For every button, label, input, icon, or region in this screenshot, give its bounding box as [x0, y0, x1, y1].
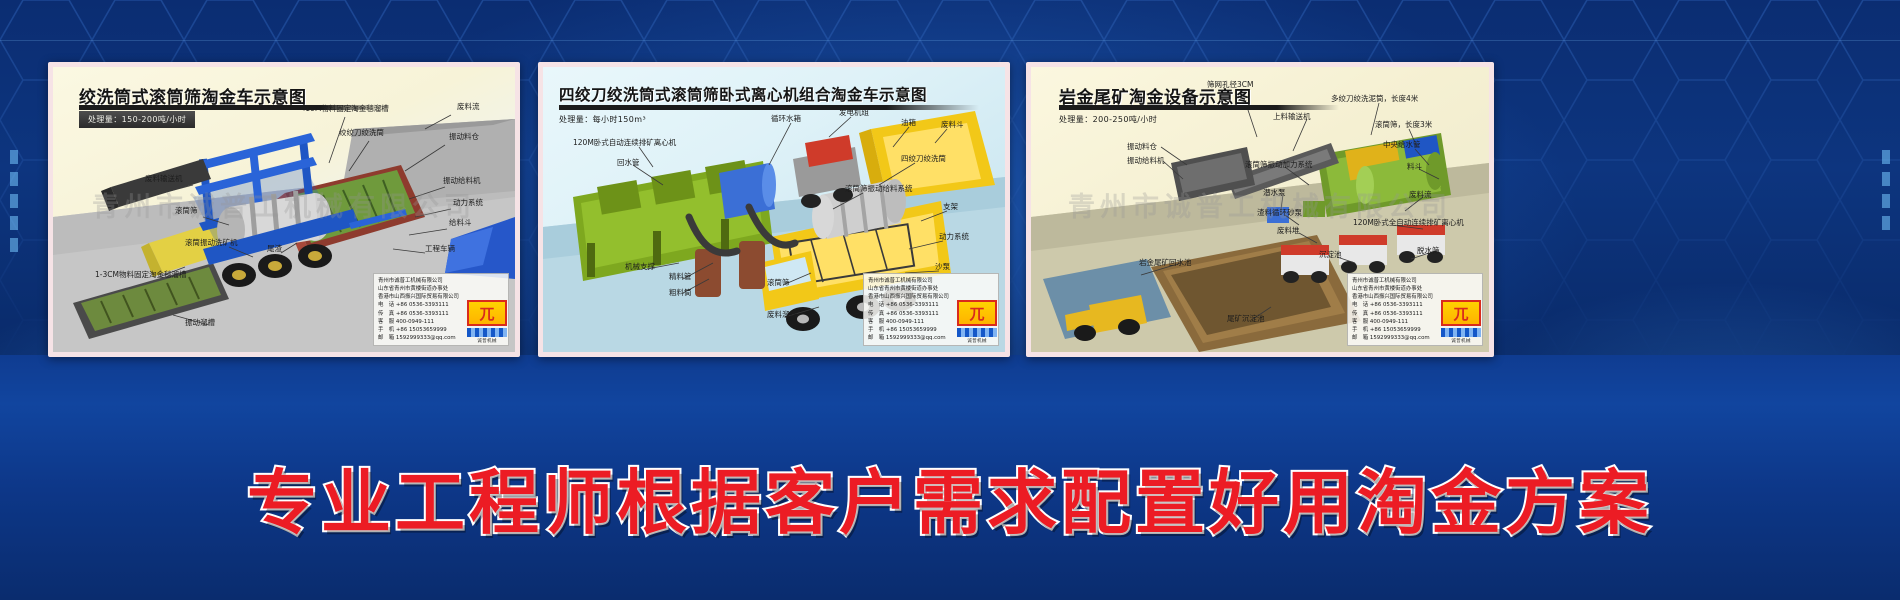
logo-glyph: 兀	[1441, 300, 1481, 326]
logo-stripe-decoration	[1441, 328, 1481, 337]
panel-3-label-1: 多绞刀绞洗泥筒，长度4米	[1331, 95, 1418, 104]
panel-3-label-0: 筛网孔径3CM	[1207, 81, 1253, 90]
panel-2-title: 四绞刀绞洗筒式滚筒筛卧式离心机组合淘金车示意图	[559, 83, 927, 105]
panel-3-title-rule	[1059, 105, 1339, 110]
panel-2-label-0: 循环水箱	[771, 115, 801, 124]
panel-1-label-5: 滚筒筛	[175, 207, 198, 216]
panel-1-label-6: 振动给料机	[443, 177, 481, 186]
panel-3-label-9: 潜水泵	[1263, 189, 1286, 198]
panel-3-canvas: 岩金尾矿淘金设备示意图 处理量：200-250吨/小时 青州市诚普工机械有限公司…	[1031, 67, 1489, 352]
panel-2-label-7: 滚筒筛振动给料系统	[845, 185, 913, 194]
panel-2-label-9: 动力系统	[939, 233, 969, 242]
panel-3-label-11: 渣料循环砂泵	[1257, 209, 1302, 218]
panel-3-label-8: 料斗	[1407, 163, 1422, 172]
contact-address: 山东省青州市黄楼街道办事处	[1352, 285, 1478, 293]
panel-1-label-1: 废料流	[457, 103, 480, 112]
diagram-panel-2[interactable]: 四绞刀绞洗筒式滚筒筛卧式离心机组合淘金车示意图 处理量：每小时150m³ 循环水…	[538, 62, 1010, 357]
panel-2-label-4: 120M卧式自动连续排矿离心机	[573, 139, 676, 148]
panel-1-company-logo: 兀 诚普机械	[467, 300, 507, 342]
panel-2-label-14: 滚筒筛	[767, 279, 790, 288]
panel-3-label-10: 废料流	[1409, 191, 1432, 200]
panel-3-label-15: 脱水筛	[1417, 247, 1440, 256]
panel-3-label-7: 滚筒筛振动加力系统	[1245, 161, 1313, 170]
diagram-panel-3[interactable]: 岩金尾矿淘金设备示意图 处理量：200-250吨/小时 青州市诚普工机械有限公司…	[1026, 62, 1494, 357]
panel-1-label-9: 滚筒振动洗矿机	[185, 239, 238, 248]
panel-1-label-8: 给料斗	[449, 219, 472, 228]
headline-banner: 专业工程师根据客户需求配置好用淘金方案	[0, 440, 1900, 555]
logo-caption: 诚普机械	[1441, 338, 1481, 344]
panel-1-label-11: 工程车辆	[425, 245, 455, 254]
logo-stripe-decoration	[957, 328, 997, 337]
panel-2-canvas: 四绞刀绞洗筒式滚筒筛卧式离心机组合淘金车示意图 处理量：每小时150m³ 循环水…	[543, 67, 1005, 352]
panel-3-company-logo: 兀 诚普机械	[1441, 300, 1481, 342]
panel-3-label-3: 滚筒筛，长度3米	[1375, 121, 1432, 130]
panel-1-label-10: 尾渣	[267, 245, 282, 254]
panel-2-label-5: 回水管	[617, 159, 640, 168]
contact-address: 山东省青州市黄楼街道办事处	[378, 285, 504, 293]
panel-1-capacity-badge: 处理量：150-200吨/小时	[79, 111, 195, 128]
panel-3-label-4: 中央给水管	[1383, 141, 1421, 150]
panel-1-label-0: <10M物料固定淘金毯溜槽	[299, 105, 389, 114]
panel-3-label-16: 岩金尾矿回水池	[1139, 259, 1192, 268]
panel-3-label-6: 振动给料机	[1127, 157, 1165, 166]
panel-2-label-3: 废料斗	[941, 121, 964, 130]
panel-3-capacity-badge: 处理量：200-250吨/小时	[1059, 111, 1157, 128]
panel-2-label-11: 机械支撑	[625, 263, 655, 272]
panel-1-canvas: 绞洗筒式滚筒筛淘金车示意图 处理量：150-200吨/小时 青州市诚普工机械有限…	[53, 67, 515, 352]
panel-2-label-2: 油箱	[901, 119, 916, 128]
logo-stripe-decoration	[467, 328, 507, 337]
panel-1-label-2: 绞绞刀绞洗筒	[339, 129, 384, 138]
panel-2-label-15: 废料溜槽	[767, 311, 797, 320]
headline-text: 专业工程师根据客户需求配置好用淘金方案	[247, 447, 1653, 548]
panel-3-label-17: 尾矿沉淀池	[1227, 315, 1265, 324]
panel-3-label-12: 废料堆	[1277, 227, 1300, 236]
panel-3-label-5: 振动料仓	[1127, 143, 1157, 152]
logo-glyph: 兀	[467, 300, 507, 326]
panel-2-capacity-badge: 处理量：每小时150m³	[559, 111, 646, 128]
panel-3-label-2: 上料输送机	[1273, 113, 1311, 122]
panel-1-label-4: 废料输送机	[145, 175, 183, 184]
diagram-panel-1[interactable]: 绞洗筒式滚筒筛淘金车示意图 处理量：150-200吨/小时 青州市诚普工机械有限…	[48, 62, 520, 357]
panel-3-label-13: 沉淀池	[1319, 251, 1342, 260]
panel-1-label-7: 动力系统	[453, 199, 483, 208]
panel-2-title-rule	[559, 105, 979, 110]
panel-2-label-1: 发电机组	[839, 109, 869, 118]
diagram-panel-group: 绞洗筒式滚筒筛淘金车示意图 处理量：150-200吨/小时 青州市诚普工机械有限…	[0, 0, 1900, 445]
logo-glyph: 兀	[957, 300, 997, 326]
panel-2-label-6: 四绞刀绞洗筒	[901, 155, 946, 164]
contact-company: 青州市诚普工机械有限公司	[378, 277, 504, 285]
panel-2-company-logo: 兀 诚普机械	[957, 300, 997, 342]
panel-1-label-3: 振动料仓	[449, 133, 479, 142]
panel-2-label-12: 粗料筒	[669, 289, 692, 298]
logo-caption: 诚普机械	[467, 338, 507, 344]
panel-1-label-13: 振动溜槽	[185, 319, 215, 328]
contact-company: 青州市诚普工机械有限公司	[868, 277, 994, 285]
panel-1-label-12: 1-3CM物料固定淘金毯溜槽	[95, 271, 186, 280]
contact-company: 青州市诚普工机械有限公司	[1352, 277, 1478, 285]
contact-address: 山东省青州市黄楼街道办事处	[868, 285, 994, 293]
panel-2-label-13: 精料管	[669, 273, 692, 282]
panel-2-label-10: 沙泵	[935, 263, 950, 272]
logo-caption: 诚普机械	[957, 338, 997, 344]
panel-2-label-8: 支架	[943, 203, 958, 212]
panel-3-label-14: 120M卧式全自动连续排矿离心机	[1353, 219, 1464, 228]
